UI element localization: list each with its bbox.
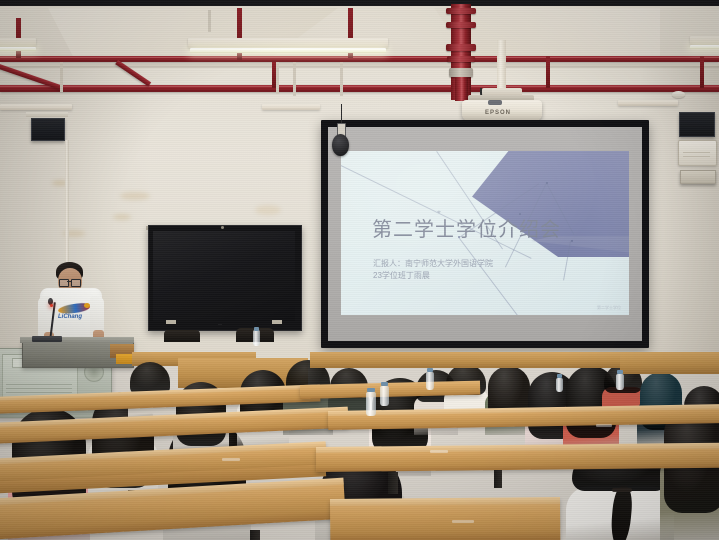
light-hanger-5 <box>276 62 279 94</box>
light-fixture-left <box>0 38 36 47</box>
light-fixture-right <box>690 36 719 45</box>
riser-lower-segment <box>455 77 468 101</box>
presentation-slide[interactable]: ⌖ 第二学士学位介绍会 汇报人：南宁师范大学外国语学院 23学位班丁雨晨 第二学… <box>341 151 629 315</box>
pipe-highlight-upper <box>0 57 719 58</box>
tv-power-led <box>221 226 224 229</box>
light-shelf-left <box>0 104 72 110</box>
wall-box-vent <box>683 152 710 153</box>
pipe-brace-6 <box>700 56 704 88</box>
water-bottle-cap <box>427 368 433 372</box>
wall-control-box-right <box>678 140 717 166</box>
light-shelf-center <box>262 104 320 110</box>
water-bottle-front[interactable] <box>253 330 260 346</box>
hair-tie <box>612 488 631 492</box>
desk-leg-r2-c <box>494 470 502 488</box>
fluorescent-tube-center <box>190 48 386 53</box>
pipe-flange-4 <box>447 56 475 62</box>
pipe-flange-2 <box>446 22 476 28</box>
wall-box-vent-2 <box>683 156 710 157</box>
desk-leg-r2-b <box>388 472 398 494</box>
projector-lens <box>488 100 502 105</box>
desk-tag-r2 <box>222 458 240 461</box>
desk-tag-r2b <box>430 450 448 453</box>
wall-speaker-right <box>679 112 715 137</box>
light-hanger-1 <box>208 10 211 32</box>
tv-brand-mark: — <box>218 321 223 326</box>
tv-mount-bottom-left <box>166 320 176 324</box>
wall-speaker-far-right <box>680 170 716 184</box>
drink-cup[interactable] <box>380 386 389 406</box>
wall-stain-5 <box>255 205 281 215</box>
light-fixture-center <box>188 38 388 48</box>
slide-node-1 <box>546 182 548 184</box>
wall-speaker-left <box>31 118 65 141</box>
wall-seam-upper <box>0 66 719 68</box>
lecture-hall-photo: EPSON — ⌖ 第二学士学位介绍会 汇报人：南宁师范大学外国语学院 <box>0 0 719 540</box>
cabinet-vent-2 <box>6 388 72 389</box>
wall-display-screen[interactable] <box>153 231 295 321</box>
wall-stain-4 <box>113 214 131 220</box>
slide-node-3 <box>571 240 573 242</box>
cabinet-vent-1 <box>6 384 72 385</box>
presenter-shirt-text: LiChang <box>58 314 82 320</box>
light-hanger-4 <box>60 62 63 92</box>
water-bottle[interactable] <box>556 378 563 392</box>
water-bottle-cap <box>367 388 375 392</box>
water-bottle-cap-front <box>254 327 259 331</box>
hanging-microphone-icon[interactable] <box>332 134 349 156</box>
audience-member <box>664 404 719 540</box>
light-shelf-right <box>618 100 678 106</box>
pipe-flange-1 <box>446 8 476 14</box>
drink-cup-cap <box>381 382 388 386</box>
cabinet-vent-3 <box>6 392 72 393</box>
water-bottle[interactable] <box>366 392 376 416</box>
presenter-shirt-dot <box>84 303 90 308</box>
projector-pole <box>497 40 506 90</box>
desk-row-5-back <box>310 352 640 368</box>
microphone-status-led <box>50 304 53 307</box>
smoke-detector-icon <box>672 91 685 98</box>
presenter-glasses-right <box>71 279 81 287</box>
desk-row-5-right <box>620 352 719 374</box>
water-bottle-cap <box>617 370 623 374</box>
lectern-keyboard[interactable] <box>32 336 62 342</box>
pipe-flange-3 <box>446 44 476 51</box>
desk-leg-r1 <box>250 530 260 540</box>
water-bottle[interactable] <box>426 372 434 390</box>
pipe-highlight-main <box>0 86 719 87</box>
slide-title: 第二学士学位介绍会 <box>372 213 561 242</box>
fluorescent-tube-right <box>690 45 719 49</box>
wall-shadow-right <box>640 66 719 366</box>
microphone-wire <box>341 104 342 124</box>
water-bottle-cap <box>557 374 562 378</box>
desk-tag-r1 <box>452 520 474 523</box>
slide-subtitle-line2: 23学位班丁雨晨 <box>373 270 430 282</box>
tv-mount-bottom-right <box>272 320 282 324</box>
pipe-brace-5 <box>546 56 550 88</box>
water-bottle[interactable] <box>616 374 624 390</box>
slide-footer-faint: 第二学士学位 <box>597 305 621 311</box>
speaker-shelf-left <box>26 112 68 117</box>
light-hanger-2 <box>293 62 296 96</box>
presenter-glasses-bridge <box>67 281 71 282</box>
fluorescent-tube-left <box>0 47 36 51</box>
audience-member <box>240 370 286 446</box>
light-hanger-3 <box>340 62 343 96</box>
chair-back-behind-podium <box>164 330 200 342</box>
desk-tag-r3 <box>596 424 612 427</box>
pipe-coupling <box>449 68 473 77</box>
slide-subtitle-line1: 汇报人：南宁师范大学外国语学院 <box>373 258 493 270</box>
wall-stain-3 <box>120 192 150 200</box>
projector-brand-label: EPSON <box>485 110 511 116</box>
